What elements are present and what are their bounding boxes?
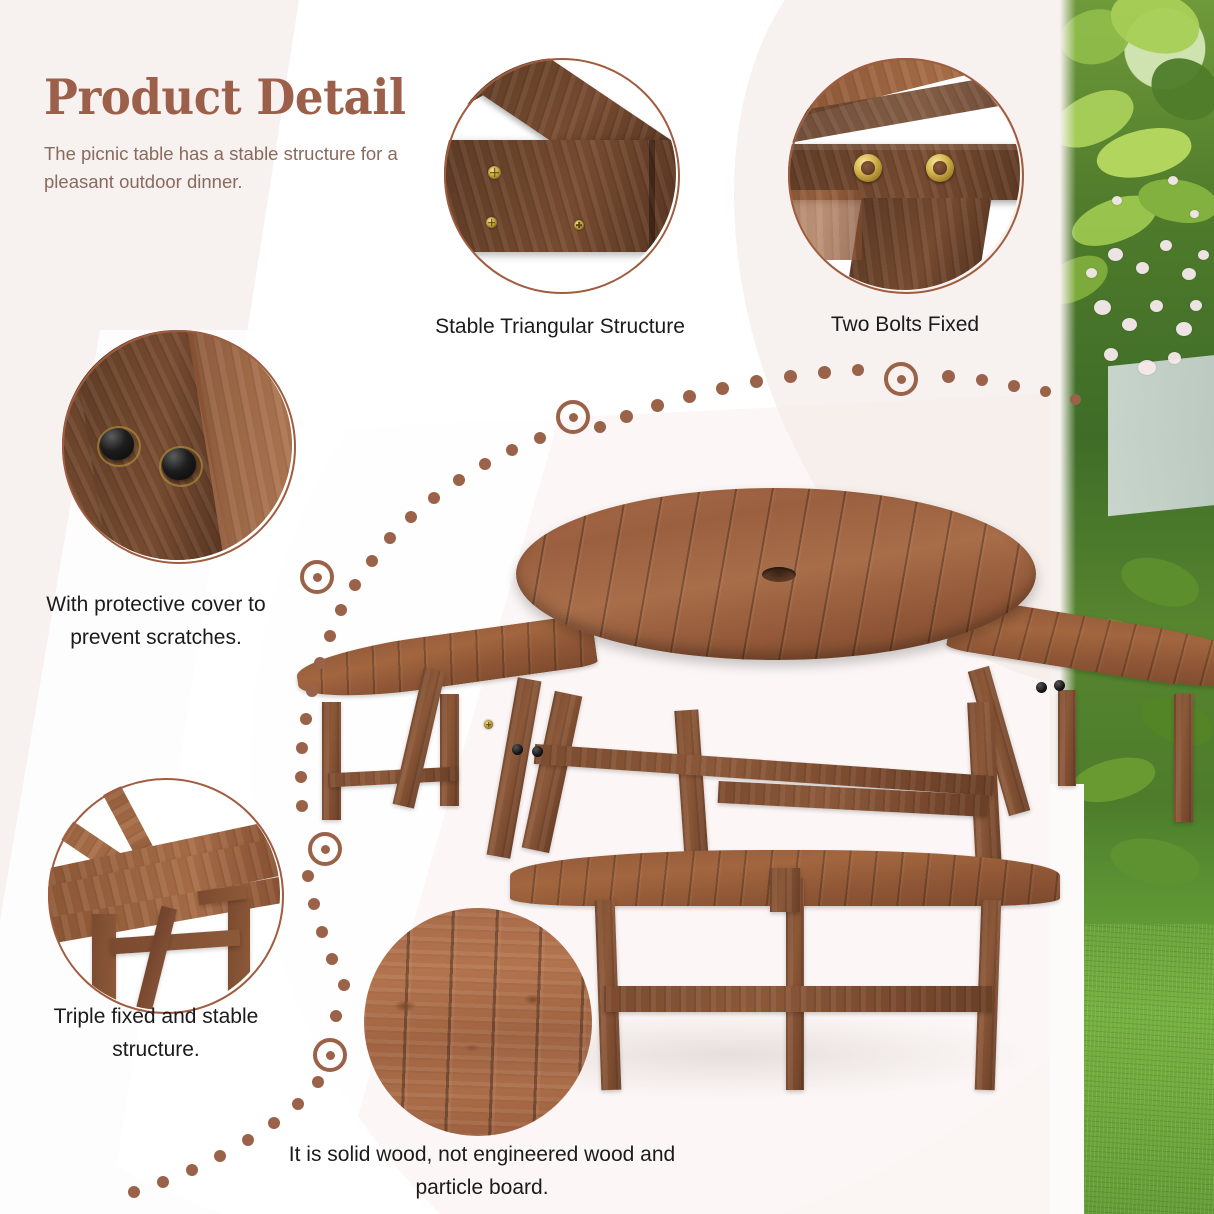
detail-image-triple-fixed bbox=[48, 778, 280, 1010]
product-detail-page: Product Detail The picnic table has a st… bbox=[0, 0, 1214, 1214]
bench-back-left bbox=[294, 613, 598, 706]
detail-caption-triple-fixed: Triple fixed and stable structure. bbox=[28, 1000, 284, 1066]
tabletop bbox=[516, 488, 1036, 660]
page-title: Product Detail bbox=[44, 68, 406, 126]
page-subtitle: The picnic table has a stable structure … bbox=[44, 140, 444, 196]
detail-image-stable-triangular-structure bbox=[444, 58, 676, 290]
detail-image-protective-cover bbox=[62, 330, 292, 560]
product-photo bbox=[288, 470, 1100, 1170]
product-shadow bbox=[418, 1010, 1038, 1100]
detail-caption-two-bolts-fixed: Two Bolts Fixed bbox=[770, 308, 1040, 341]
umbrella-hole bbox=[762, 567, 796, 582]
detail-caption-protective-cover: With protective cover to prevent scratch… bbox=[18, 588, 294, 654]
detail-caption-stable-triangular-structure: Stable Triangular Structure bbox=[420, 310, 700, 343]
detail-image-two-bolts-fixed bbox=[788, 58, 1020, 290]
